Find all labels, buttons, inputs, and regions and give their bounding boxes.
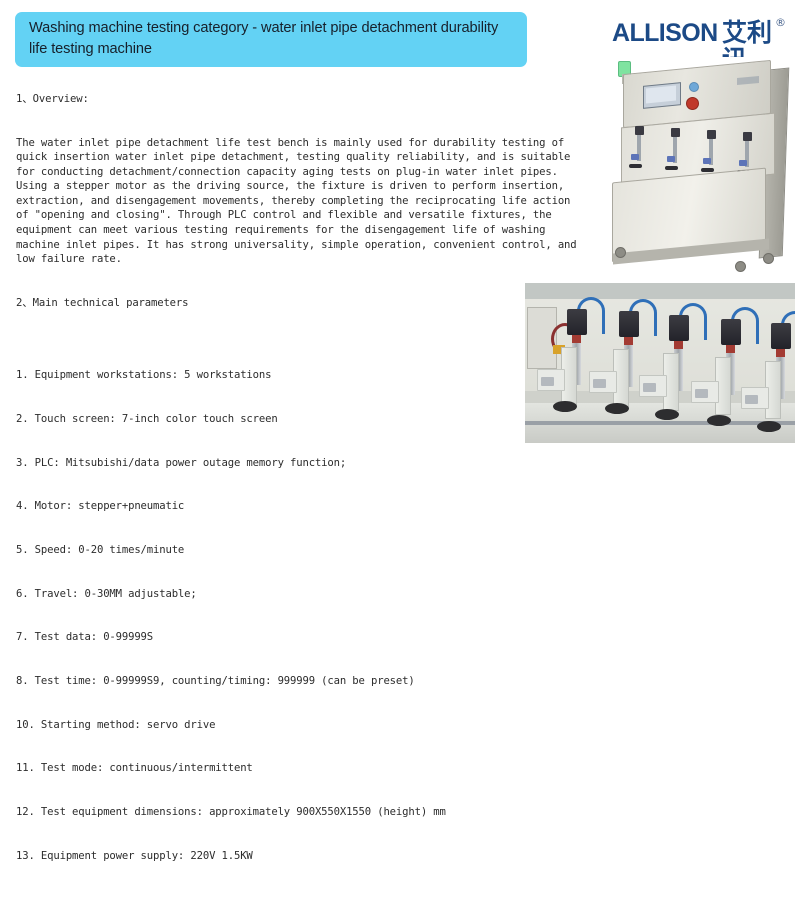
list-item: 1. Equipment workstations: 5 workstation… — [16, 368, 586, 383]
rubber-pad — [707, 415, 731, 426]
test-pad — [701, 168, 714, 172]
clamp-icon — [541, 377, 554, 386]
rubber-pad — [605, 403, 629, 414]
list-item: 8. Test time: 0-99999S9, counting/timing… — [16, 674, 586, 689]
list-item: 12. Test equipment dimensions: approxima… — [16, 805, 586, 820]
stepper-motor-icon — [619, 311, 639, 337]
rubber-pad — [757, 421, 781, 432]
caster-wheel — [615, 247, 626, 258]
caster-wheel — [735, 261, 746, 272]
stepper-motor-icon — [771, 323, 791, 349]
registered-trademark-icon: ® — [775, 16, 786, 29]
stepper-motor-icon — [567, 309, 587, 335]
overview-heading: 1、Overview: — [16, 92, 586, 107]
fixture-block — [703, 158, 711, 164]
spec-document-body: 1、Overview: The water inlet pipe detachm… — [16, 63, 586, 900]
coupling — [624, 337, 633, 345]
list-item: 10. Starting method: servo drive — [16, 718, 586, 733]
motor-icon — [635, 126, 644, 135]
product-spec-page: { "title_banner": { "text": "Washing mac… — [0, 0, 800, 450]
test-pad — [665, 166, 678, 170]
clamp-icon — [643, 383, 656, 392]
fixture-block — [667, 156, 675, 162]
caster-wheel — [763, 253, 774, 264]
motor-icon — [671, 128, 680, 137]
touch-screen-display — [646, 86, 676, 104]
fixture-block — [631, 154, 639, 160]
parameters-list: 1. Equipment workstations: 5 workstation… — [16, 339, 586, 892]
clamp-icon — [745, 395, 758, 404]
clamp-icon — [593, 379, 606, 388]
product-photo-machine — [597, 57, 797, 279]
motor-icon — [743, 132, 752, 141]
allison-logo: ALLISON 艾利讯 ® — [612, 18, 788, 52]
parameters-heading: 2、Main technical parameters — [16, 296, 586, 311]
list-item: 5. Speed: 0-20 times/minute — [16, 543, 586, 558]
list-item: 2. Touch screen: 7-inch color touch scre… — [16, 412, 586, 427]
list-item: 6. Travel: 0-30MM adjustable; — [16, 587, 586, 602]
emergency-stop-icon — [686, 97, 699, 110]
rubber-pad — [655, 409, 679, 420]
list-item: 11. Test mode: continuous/intermittent — [16, 761, 586, 776]
stepper-motor-icon — [721, 319, 741, 345]
test-pad — [629, 164, 642, 168]
clamp-icon — [695, 389, 708, 398]
coupling — [776, 349, 785, 357]
coupling — [674, 341, 683, 349]
coupling — [572, 335, 581, 343]
motor-icon — [707, 130, 716, 139]
bench-front-edge — [525, 421, 795, 425]
product-photo-workstations — [525, 283, 795, 443]
page-title-banner: Washing machine testing category - water… — [15, 12, 527, 67]
list-item: 13. Equipment power supply: 220V 1.5KW — [16, 849, 586, 864]
stepper-motor-icon — [669, 315, 689, 341]
overview-paragraph: The water inlet pipe detachment life tes… — [16, 136, 586, 267]
fixture-block — [739, 160, 747, 166]
start-button-icon — [689, 82, 699, 92]
rubber-pad — [553, 401, 577, 412]
list-item: 4. Motor: stepper+pneumatic — [16, 499, 586, 514]
logo-wordmark: ALLISON — [612, 20, 718, 47]
list-item: 3. PLC: Mitsubishi/data power outage mem… — [16, 456, 586, 471]
list-item: 7. Test data: 0-99999S — [16, 630, 586, 645]
overhead-rail — [525, 283, 795, 299]
coupling — [726, 345, 735, 353]
